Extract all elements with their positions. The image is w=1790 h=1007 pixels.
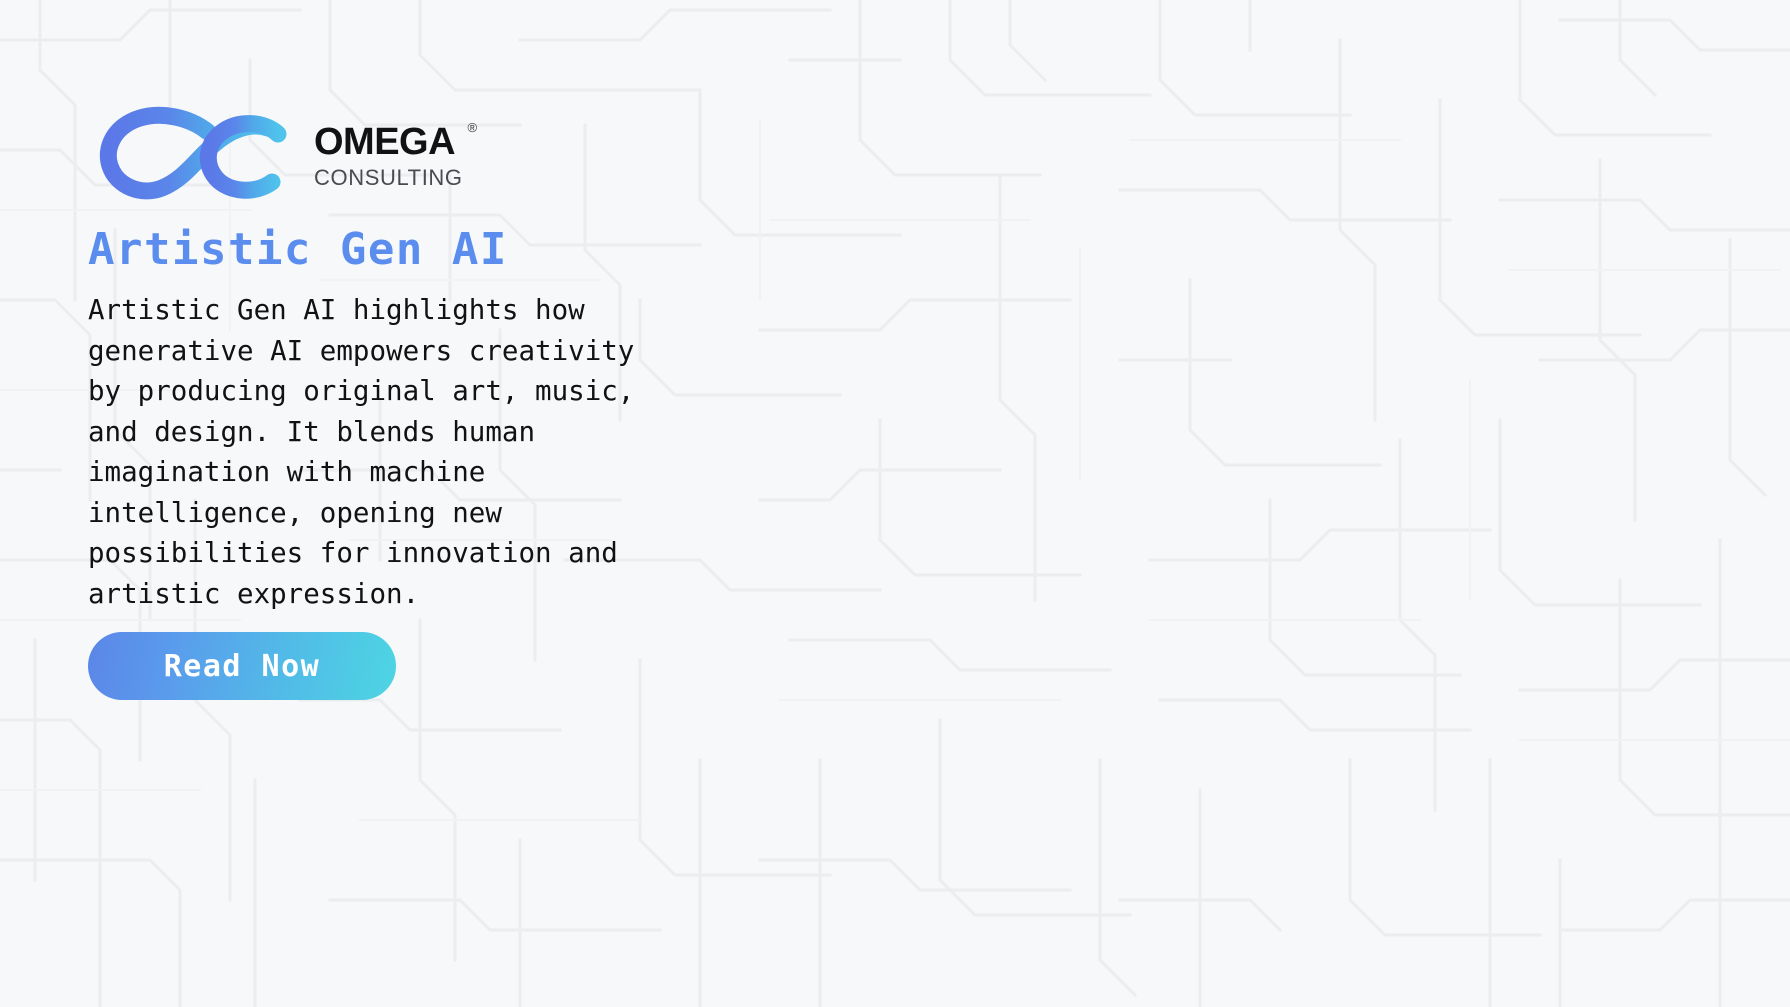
read-now-button[interactable]: Read Now	[88, 632, 396, 700]
omega-infinity-logo-icon	[88, 104, 300, 204]
hero-content: OMEGA® CONSULTING Artistic Gen AI Artist…	[88, 104, 848, 700]
description-line: possibilities for innovation and	[88, 533, 708, 574]
brand-logo[interactable]: OMEGA® CONSULTING	[88, 104, 848, 204]
description-line: Artistic Gen AI highlights how	[88, 290, 708, 331]
hero-card: OMEGA® CONSULTING Artistic Gen AI Artist…	[0, 0, 1790, 1007]
description-line: by producing original art, music,	[88, 371, 708, 412]
page-title: Artistic Gen AI	[88, 226, 848, 274]
description-line: imagination with machine	[88, 452, 708, 493]
brand-wordmark: OMEGA® CONSULTING	[314, 119, 463, 189]
brand-tagline: CONSULTING	[314, 167, 463, 189]
registered-trademark-icon: ®	[468, 121, 477, 134]
hero-description: Artistic Gen AI highlights how generativ…	[88, 290, 708, 614]
description-line: intelligence, opening new	[88, 493, 708, 534]
description-line: generative AI empowers creativity	[88, 331, 708, 372]
brand-name: OMEGA	[314, 121, 455, 163]
description-line: artistic expression.	[88, 574, 708, 615]
description-line: and design. It blends human	[88, 412, 708, 453]
